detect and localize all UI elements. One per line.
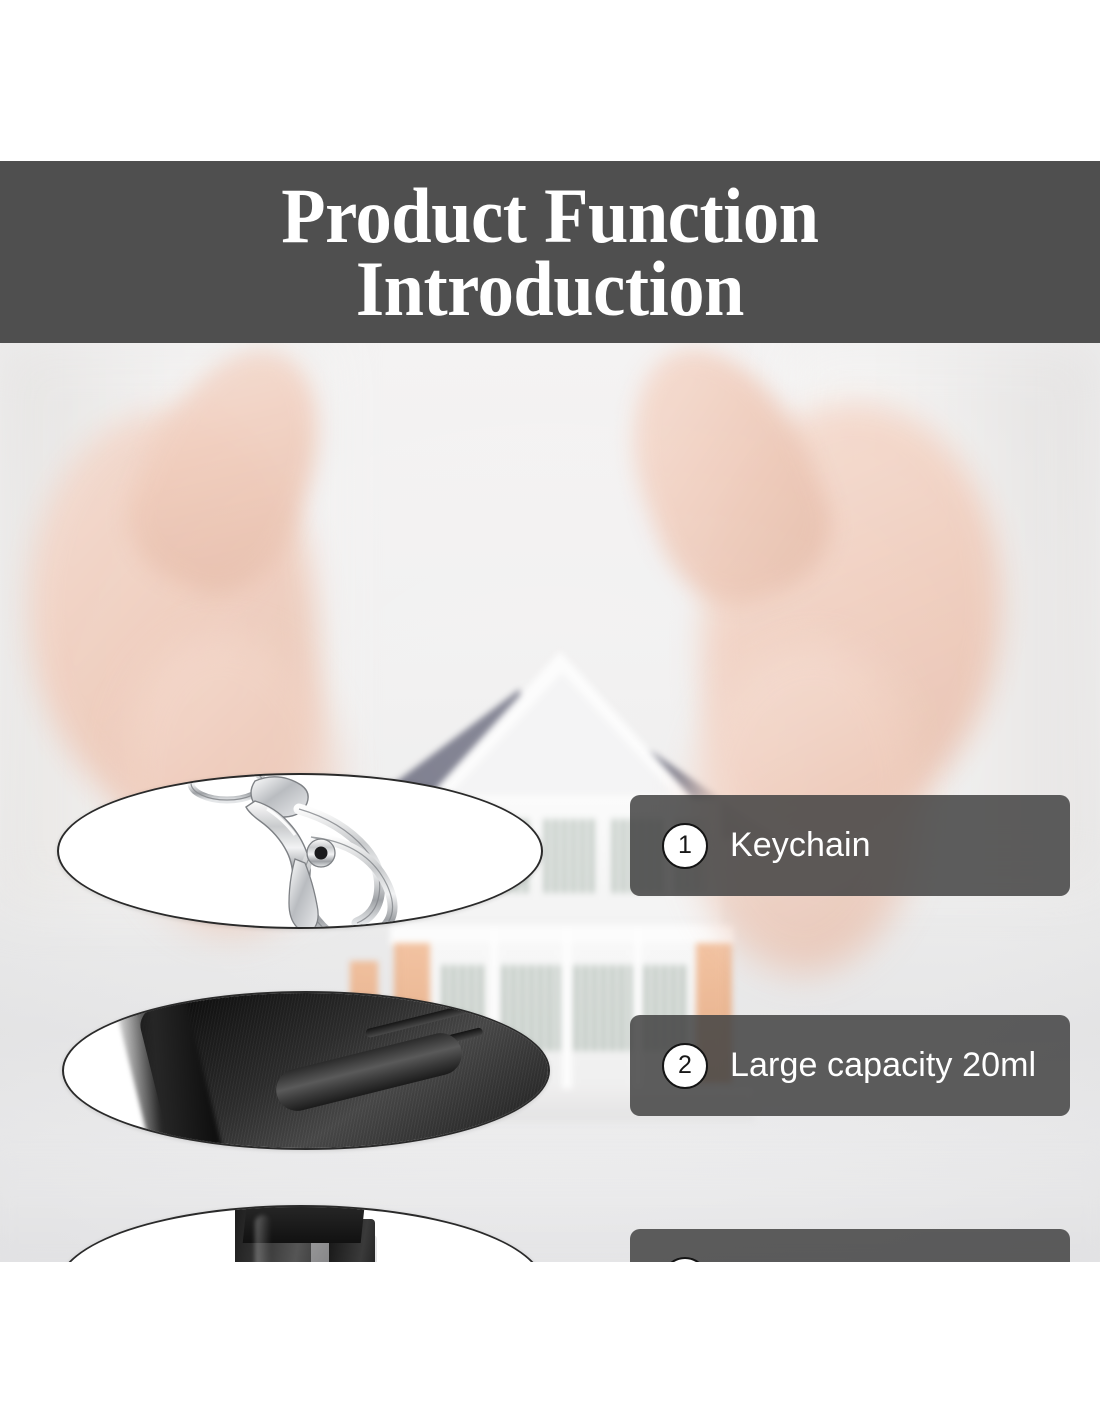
- feature-number-badge: 2: [662, 1043, 708, 1089]
- press-nozzle-photo: [59, 1207, 543, 1262]
- callout-oval-press-nozzle: [57, 1205, 545, 1262]
- page-title: Product Function Introduction: [244, 179, 856, 326]
- feature-label: Press type nozzle: [730, 1260, 1000, 1262]
- title-banner: Product Function Introduction: [0, 161, 1100, 343]
- callout-oval-bottle-body: [62, 991, 550, 1150]
- feature-number-badge: 3: [662, 1257, 708, 1263]
- feature-item-2[interactable]: 2 Large capacity 20ml: [630, 1015, 1070, 1116]
- product-photo-stage: 1 Keychain 2 Large capacity 20ml 3 Press…: [0, 343, 1100, 1262]
- feature-item-1[interactable]: 1 Keychain: [630, 795, 1070, 896]
- infographic-page: Product Function Introduction: [0, 0, 1100, 1422]
- callout-oval-keychain: [57, 773, 543, 929]
- feature-label: Keychain: [730, 826, 871, 865]
- bottle-body-photo: [64, 993, 548, 1148]
- keychain-clasp-icon: [59, 775, 541, 927]
- feature-number-badge: 1: [662, 823, 708, 869]
- feature-item-3[interactable]: 3 Press type nozzle: [630, 1229, 1070, 1262]
- feature-label: Large capacity 20ml: [730, 1046, 1036, 1085]
